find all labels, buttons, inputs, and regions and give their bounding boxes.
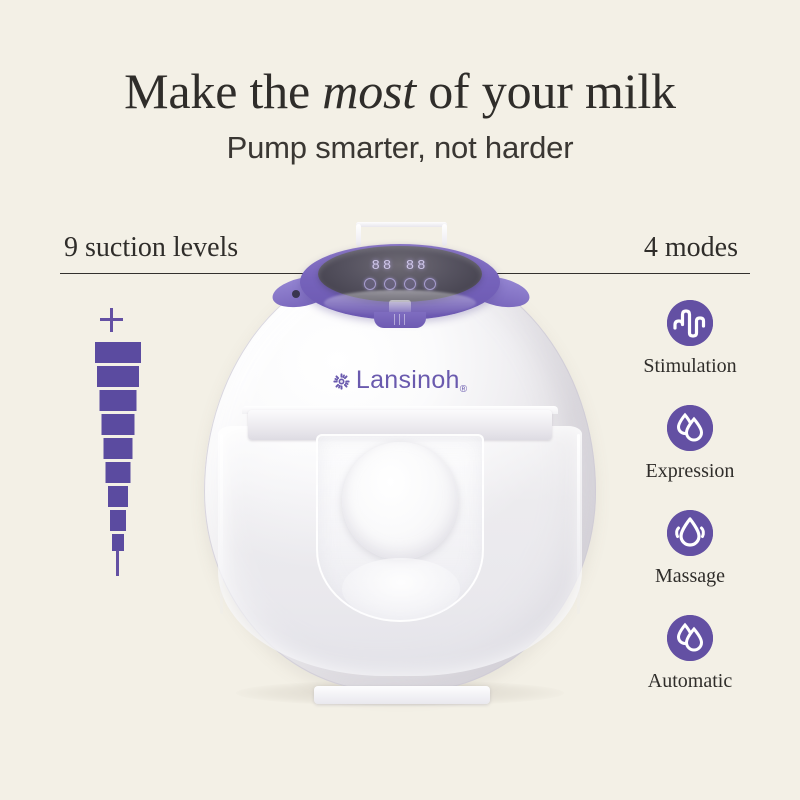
pump-base-tab: [314, 686, 490, 704]
suction-bar-6: [102, 414, 135, 435]
chamber-bowl-reflection: [342, 558, 460, 620]
display-button-row: [318, 278, 482, 290]
brand-wordmark: Lansinoh®: [196, 366, 604, 395]
brand-trademark: ®: [460, 384, 467, 395]
mode-label-expression: Expression: [580, 460, 800, 483]
suction-bar-4: [106, 462, 131, 483]
chamber-edge-left: [220, 434, 223, 614]
mode-label-automatic: Automatic: [580, 670, 800, 693]
suction-bar-2: [110, 510, 126, 531]
page-headline: Make the most of your milk: [0, 64, 800, 119]
lansinoh-flower-icon: [333, 373, 350, 390]
minus-icon: [116, 550, 119, 576]
headline-part1: Make the: [124, 63, 322, 119]
collar-tab-vent-lines: [392, 314, 408, 325]
pump-top-bar: [356, 222, 447, 227]
modes-heading: 4 modes: [644, 232, 738, 264]
page-subheadline: Pump smarter, not harder: [0, 130, 800, 166]
mode-label-stimulation: Stimulation: [580, 355, 800, 378]
mode-label-massage: Massage: [580, 565, 800, 588]
display-button-4[interactable]: [424, 278, 436, 290]
collar-power-dot: [292, 290, 300, 298]
droplet-outline-icon: [667, 510, 713, 556]
plus-icon: [86, 306, 150, 336]
suction-bar-7: [100, 390, 137, 411]
display-button-1[interactable]: [364, 278, 376, 290]
nipple-tunnel-opening: [342, 442, 458, 560]
suction-bar-8: [97, 366, 139, 387]
suction-bar-3: [108, 486, 128, 507]
headline-emphasis: most: [322, 63, 416, 119]
suction-bar-1: [112, 534, 124, 551]
brand-name: Lansinoh: [356, 366, 460, 394]
mode-item-expression[interactable]: Expression: [580, 405, 800, 510]
pump-post-left: [356, 224, 361, 246]
breast-pump-product-image: Lansinoh® 88 88: [196, 238, 604, 700]
two-droplets-filled-icon: [667, 615, 713, 661]
modes-list: Stimulation Expression Ma: [580, 300, 800, 720]
suction-level-indicator: [86, 306, 150, 576]
display-button-2[interactable]: [384, 278, 396, 290]
display-button-3[interactable]: [404, 278, 416, 290]
mode-item-massage[interactable]: Massage: [580, 510, 800, 615]
suction-bar-9: [95, 342, 141, 363]
pump-post-right: [442, 224, 447, 246]
mode-item-automatic[interactable]: Automatic: [580, 615, 800, 720]
infographic-page: Make the most of your milk Pump smarter,…: [0, 0, 800, 800]
two-droplets-icon: [667, 405, 713, 451]
wave-pulse-icon: [667, 300, 713, 346]
mode-item-stimulation[interactable]: Stimulation: [580, 300, 800, 405]
display-readout: 88 88: [318, 258, 482, 274]
headline-part2: of your milk: [416, 63, 676, 119]
suction-bar-5: [104, 438, 133, 459]
